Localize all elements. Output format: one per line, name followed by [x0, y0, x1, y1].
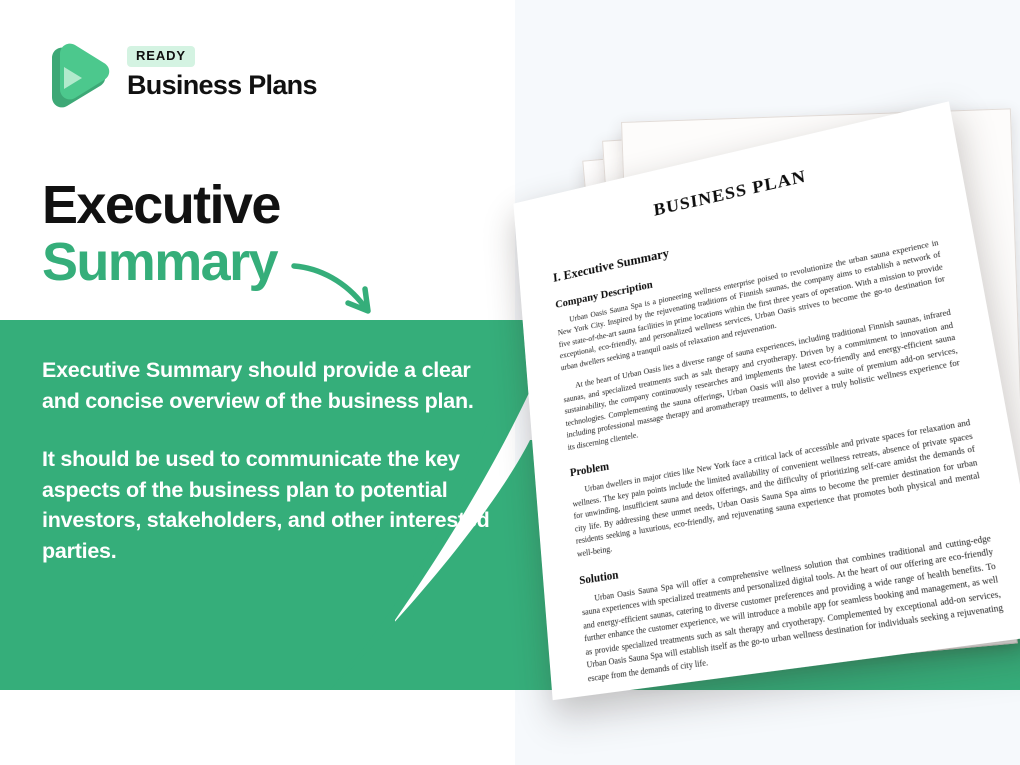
- page-title: Executive Summary: [42, 178, 280, 291]
- panel-paragraph-2: It should be used to communicate the key…: [42, 444, 492, 566]
- slide-canvas: READY Business Plans Executive Summary E…: [0, 0, 1020, 765]
- brand-name: Business Plans: [127, 71, 317, 99]
- subsection-paragraph: Urban Oasis Sauna Spa will offer a compr…: [581, 532, 1007, 686]
- document-stack[interactable]: BUSINESS PLAN I. Executive Summary Compa…: [455, 60, 1020, 690]
- ready-badge: READY: [127, 46, 195, 67]
- panel-paragraph-1: Executive Summary should provide a clear…: [42, 355, 492, 416]
- headline-line-2: Summary: [42, 234, 280, 291]
- business-plan-document[interactable]: BUSINESS PLAN I. Executive Summary Compa…: [513, 101, 1020, 700]
- double-play-triangle-icon: [42, 36, 112, 110]
- curved-arrow-down-right-icon: [288, 258, 388, 324]
- document-title: BUSINESS PLAN: [548, 140, 923, 244]
- headline-line-1: Executive: [42, 178, 280, 234]
- logo-text: READY Business Plans: [127, 46, 317, 99]
- panel-copy: Executive Summary should provide a clear…: [42, 355, 492, 566]
- logo[interactable]: READY Business Plans: [42, 36, 317, 110]
- front-page-wrapper: BUSINESS PLAN I. Executive Summary Compa…: [503, 122, 1020, 682]
